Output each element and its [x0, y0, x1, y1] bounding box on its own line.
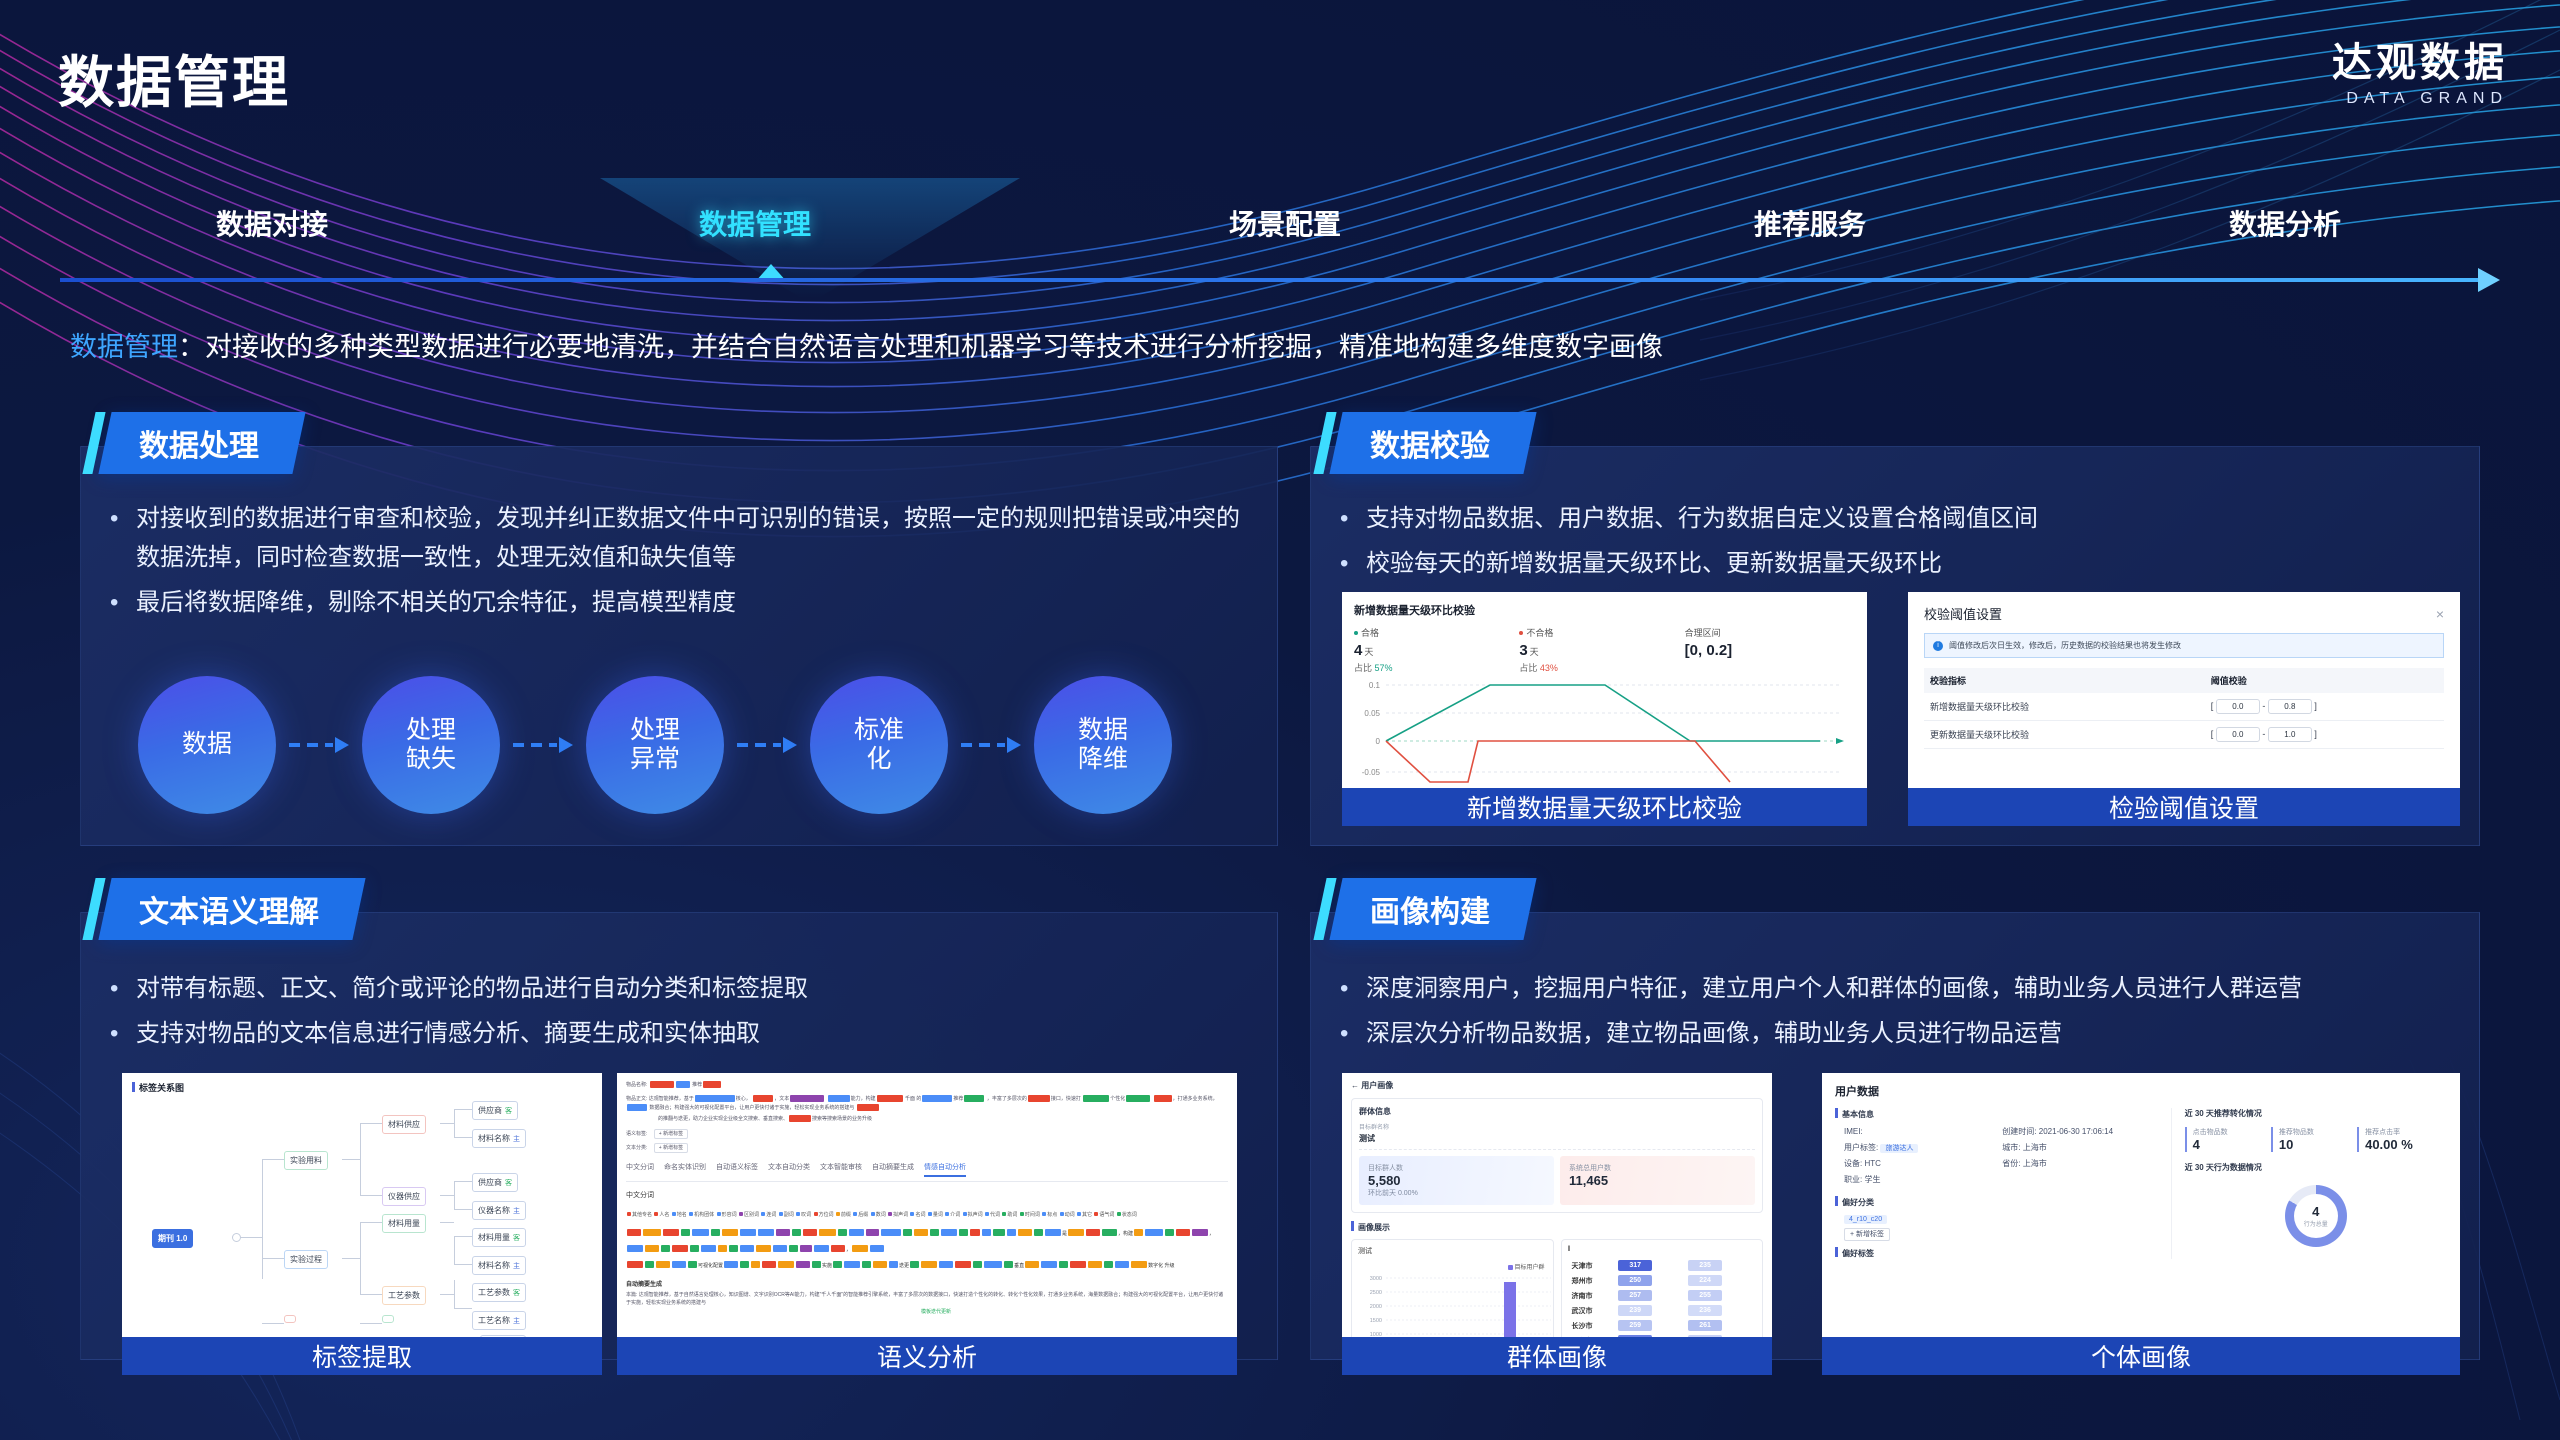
tree-leaf[interactable]: 供应商客	[472, 1173, 518, 1192]
pos-legend: 其他专名 人名 地名 机构团体 形容词 区别词 连词 副词 叹词 方位词 前缀 …	[626, 1206, 1228, 1220]
field-city: 城市: 上海市	[2002, 1140, 2160, 1156]
table-row: 郑州市250224	[1570, 1274, 1755, 1287]
bullet-dot: •	[1340, 545, 1366, 584]
tree-leaf[interactable]: 仪器名称主	[472, 1201, 526, 1220]
screenshot-threshold-dialog[interactable]: 校验阈值设置 × i 阈值修改后次日生效，修改后，历史数据的校验结果也将发生修改…	[1908, 592, 2460, 788]
kpi-ctr: 推荐点击率 40.00 %	[2357, 1127, 2447, 1152]
flow-arrow-icon	[724, 737, 810, 753]
group-info-card: 群体信息 目标群名称 测试 目标群人数 5,580 环比前天 0.00% 系统总…	[1351, 1098, 1763, 1213]
tab-1[interactable]: 命名实体识别	[664, 1162, 706, 1177]
table-row: 新增数据量天级环比校验 [ 0.0 - 0.8 ]	[1924, 693, 2444, 721]
group-name-value: 测试	[1359, 1133, 1755, 1144]
item-body-row: 物品正文: 达观智能推荐，基于核心， ，文本 能力，构建 千面 的推荐 ，丰富了…	[626, 1094, 1228, 1112]
pref-category-title: 偏好分类	[1835, 1196, 2161, 1208]
group-info-title: 群体信息	[1359, 1106, 1755, 1117]
item-name-row: 物品名称: 推荐	[626, 1080, 1228, 1089]
bullet-text: 深层次分析物品数据，建立物品画像，辅助业务人员进行物品运营	[1366, 1015, 2062, 1054]
bullet-dot: •	[1340, 1015, 1366, 1054]
field-province: 省份: 上海市	[2002, 1156, 2160, 1172]
caption-group-portrait: 群体画像	[1342, 1337, 1772, 1375]
slide-root: 数据管理 达观数据 DATA GRAND 数据对接 数据管理 场景配置 推荐服务…	[0, 0, 2560, 1440]
bullet-text: 支持对物品的文本信息进行情感分析、摘要生成和实体抽取	[136, 1015, 760, 1054]
threshold-table: 校验指标 阈值校验 新增数据量天级环比校验 [ 0.0 - 0.8 ] 更新数据…	[1924, 668, 2444, 749]
legend-qualified: 合格 4天 占比 57%	[1354, 626, 1519, 674]
tree-node-l1[interactable]: 实验过程	[284, 1250, 328, 1269]
basic-info-title: 基本信息	[1835, 1108, 2161, 1120]
tree-leaf[interactable]: 工艺名称主	[472, 1311, 526, 1330]
bullet-dot: •	[110, 584, 136, 623]
legend-dot-red	[1519, 631, 1523, 635]
summary-footer: 模板迭代更新	[626, 1309, 1228, 1316]
legend-unit: 天	[1530, 647, 1539, 657]
processing-flow: 数据 处理 缺失 处理 异常 标准 化 数据 降维	[138, 676, 1172, 814]
row-metric: 新增数据量天级环比校验	[1924, 693, 2205, 721]
bullet-text: 校验每天的新增数据量天级环比、更新数据量天级环比	[1366, 545, 1942, 584]
threshold-max-input[interactable]: 1.0	[2268, 727, 2312, 742]
chart-title: 测试	[1358, 1246, 1547, 1256]
bullet-item: •校验每天的新增数据量天级环比、更新数据量天级环比	[1340, 545, 2460, 584]
flow-node-label: 数据	[182, 730, 232, 760]
tab-6[interactable]: 情感自动分析	[924, 1162, 966, 1177]
stat-target-users: 目标群人数 5,580 环比前天 0.00%	[1359, 1156, 1554, 1205]
table-row: 武汉市239236	[1570, 1304, 1755, 1317]
pref-tag-title: 偏好标签	[1835, 1247, 2161, 1259]
panel-text-semantics-title: 文本语义理解	[139, 887, 319, 931]
caption-tag-extraction: 标签提取	[122, 1337, 602, 1375]
row-threshold: [ 0.0 - 1.0 ]	[2205, 721, 2444, 749]
panel-portrait-header: 画像构建	[1329, 878, 1536, 940]
tree-node-l2[interactable]	[382, 1315, 394, 1323]
screenshot-group-portrait[interactable]: ← 用户画像 群体信息 目标群名称 测试 目标群人数 5,580 环比前天 0.…	[1342, 1073, 1772, 1337]
city-table: 天津市317235 郑州市250224 济南市257255 武汉市239236 …	[1568, 1257, 1757, 1337]
bullet-dot: •	[1340, 970, 1366, 1009]
nav-item-3[interactable]: 推荐服务	[1754, 203, 1866, 243]
flow-arrow-icon	[948, 737, 1034, 753]
nav-progress-line	[60, 278, 2480, 282]
dod-line-chart: 0.1 0.05 0 -0.05	[1350, 678, 1855, 783]
legend-share: 57%	[1375, 663, 1393, 673]
bullet-dot: •	[110, 970, 136, 1009]
y-tick: 0.05	[1364, 709, 1380, 718]
bullet-text: 支持对物品数据、用户数据、行为数据自定义设置合格阈值区间	[1366, 500, 2038, 539]
nav-bar: 数据对接 数据管理 场景配置 推荐服务 数据分析	[0, 203, 2560, 263]
tree-node-l2[interactable]: 工艺参数	[382, 1286, 426, 1305]
kpi-recommend-count: 推荐物品数 10	[2271, 1127, 2347, 1152]
stat-total-users: 系统总用户数 11,465	[1560, 1156, 1755, 1205]
subtitle: 数据管理：对接收的多种类型数据进行必要地清洗，并结合自然语言处理和机器学习等技术…	[70, 325, 1663, 364]
flow-node-4: 数据 降维	[1034, 676, 1172, 814]
field-occupation: 职业: 学生	[1844, 1172, 2002, 1188]
section-bar-icon	[1835, 1108, 1838, 1118]
kpi-click-count: 点击物品数 4	[2185, 1127, 2261, 1152]
flow-node-label: 处理 异常	[630, 716, 680, 775]
legend-range: 合理区间 [0, 0.2]	[1685, 626, 1850, 674]
th-threshold: 阈值校验	[2205, 668, 2444, 693]
flow-arrow-icon	[500, 737, 586, 753]
group-city-table-card: ‖ 天津市317235 郑州市250224 济南市257255 武汉市23923…	[1561, 1239, 1764, 1337]
text-class-row: 文本分类: + 新增标签	[626, 1145, 1228, 1152]
legend-unqualified: 不合格 3天 占比 43%	[1519, 626, 1684, 674]
threshold-min-input[interactable]: 0.0	[2216, 699, 2260, 714]
nav-item-2[interactable]: 场景配置	[1229, 203, 1341, 243]
flow-node-label: 处理 缺失	[406, 716, 456, 775]
bullet-dot: •	[110, 500, 136, 578]
bullet-item: •支持对物品数据、用户数据、行为数据自定义设置合格阈值区间	[1340, 500, 2460, 539]
y-tick: -0.05	[1362, 768, 1381, 777]
tree-leaf[interactable]: 材料用量客	[472, 1228, 526, 1247]
y-tick: 0	[1376, 737, 1381, 746]
tree-collapse-icon[interactable]	[232, 1233, 241, 1242]
y-tick: 2000	[1370, 1304, 1382, 1310]
bullet-text: 最后将数据降维，剔除不相关的冗余特征，提高模型精度	[136, 584, 736, 623]
bullet-item: •深度洞察用户，挖掘用户特征，建立用户个人和群体的画像，辅助业务人员进行人群运营	[1340, 970, 2470, 1009]
threshold-min-input[interactable]: 0.0	[2216, 727, 2260, 742]
flow-node-label: 标准 化	[854, 716, 904, 775]
tree-leaf[interactable]: 工艺参数客	[472, 1283, 526, 1302]
brand-logo-cn: 达观数据	[2332, 42, 2508, 84]
flow-node-3: 标准 化	[810, 676, 948, 814]
panel-text-semantics-header: 文本语义理解	[98, 878, 365, 940]
close-icon[interactable]: ×	[2436, 606, 2444, 622]
field-user-tag: 用户标签: 旅游达人	[1844, 1140, 2002, 1156]
group-name-label: 目标群名称	[1359, 1122, 1755, 1131]
flow-node-label: 数据 降维	[1078, 716, 1128, 775]
nav-item-1[interactable]: 数据管理	[699, 203, 811, 243]
y-tick: 1500	[1370, 1318, 1382, 1324]
add-class-tag-button[interactable]: + 新增标签	[654, 1143, 688, 1153]
add-semantic-tag-button[interactable]: + 新增标签	[654, 1129, 688, 1139]
section-bar-icon	[1351, 1221, 1354, 1231]
tree-leaf[interactable]: 供应商客	[472, 1101, 518, 1120]
group-bar-chart: 3000 2500 2000 1500 1000	[1356, 1272, 1556, 1337]
panel-data-processing-bullets: •对接收到的数据进行审查和校验，发现并纠正数据文件中可识别的错误，按照一定的规则…	[110, 500, 1250, 629]
donut-value: 4	[2312, 1204, 2319, 1219]
field-create-time: 创建时间: 2021-06-30 17:06:14	[2002, 1124, 2160, 1140]
bullet-text: 对带有标题、正文、简介或评论的物品进行自动分类和标签提取	[136, 970, 808, 1009]
flow-arrow-icon	[276, 737, 362, 753]
page-title: 数据管理	[58, 38, 290, 119]
caption-semantic-analysis: 语义分析	[617, 1337, 1237, 1375]
legend-value: 3	[1519, 642, 1527, 659]
item-body-row2: 的推翻与迭更，助力企业实现企业级全文搜索、垂直搜索、搜索等搜索场景的业务升级	[626, 1114, 1228, 1123]
tab-3[interactable]: 文本自动分类	[768, 1162, 810, 1177]
dialog-title: 校验阈值设置	[1924, 604, 2002, 623]
tab-2[interactable]: 自动语义标签	[716, 1162, 758, 1177]
table-header-row: 校验指标 阈值校验	[1924, 668, 2444, 693]
tree-node-l2[interactable]: 材料供应	[382, 1115, 426, 1134]
info-icon: i	[1933, 641, 1943, 651]
user-tag-badge: 旅游达人	[1880, 1144, 1918, 1153]
panel-data-processing-title: 数据处理	[139, 421, 259, 465]
shot-title: 新增数据量天级环比校验	[1354, 602, 1855, 618]
threshold-max-input[interactable]: 0.8	[2268, 699, 2312, 714]
legend-share: 43%	[1540, 663, 1558, 673]
tree-leaf[interactable]: 材料名称主	[472, 1129, 526, 1148]
screenshot-dod-chart[interactable]: 新增数据量天级环比校验 合格 4天 占比 57% 不合格 3天 占比 43% 合…	[1342, 592, 1867, 788]
flow-node-1: 处理 缺失	[362, 676, 500, 814]
field-device: 设备: HTC	[1844, 1156, 2002, 1172]
row-threshold: [ 0.0 - 0.8 ]	[2205, 693, 2444, 721]
dialog-info-banner: i 阈值修改后次日生效，修改后，历史数据的校验结果也将发生修改	[1924, 633, 2444, 658]
panel-data-validation-title: 数据校验	[1370, 421, 1490, 465]
row-metric: 更新数据量天级环比校验	[1924, 721, 2205, 749]
chart-legend: 目标用户群	[1507, 1262, 1544, 1271]
legend-unit: 天	[1364, 647, 1373, 657]
flow-node-2: 处理 异常	[586, 676, 724, 814]
display-section-title: 画像展示	[1351, 1221, 1763, 1233]
bullet-text: 深度洞察用户，挖掘用户特征，建立用户个人和群体的画像，辅助业务人员进行人群运营	[1366, 970, 2302, 1009]
semantic-tag-row: 语义标签: + 新增标签	[626, 1131, 1228, 1138]
section-segmentation-title: 中文分词	[626, 1190, 1228, 1200]
dialog-tip-text: 阈值修改后次日生效，修改后，历史数据的校验结果也将发生修改	[1949, 640, 2181, 651]
tab-5[interactable]: 自动摘要生成	[872, 1162, 914, 1177]
legend-label: 合格	[1354, 626, 1519, 639]
table-row: 天津市317235	[1570, 1259, 1755, 1272]
nav-item-0[interactable]: 数据对接	[216, 203, 328, 243]
tree-node-l2[interactable]: 材料用量	[382, 1214, 426, 1233]
bullet-item: •对带有标题、正文、简介或评论的物品进行自动分类和标签提取	[110, 970, 1250, 1009]
y-tick: 3000	[1370, 1276, 1382, 1282]
pref-tag-badge: 4_r10_c20	[1844, 1215, 1887, 1224]
token-stream: 是，构建，， 可视化配置实施迭更垂直数字化 升级	[626, 1225, 1228, 1272]
screenshot-user-portrait[interactable]: 用户数据 基本信息 IMEI: 用户标签: 旅游达人 设备: HTC 职业: 学…	[1822, 1073, 2460, 1337]
chart-legend: 合格 4天 占比 57% 不合格 3天 占比 43% 合理区间 [0, 0.2]	[1354, 626, 1855, 674]
field-imei: IMEI:	[1844, 1124, 2002, 1140]
nav-arrow-icon	[2478, 268, 2500, 292]
behavior-title: 近 30 天行为数据情况	[2185, 1162, 2447, 1173]
semantic-tabs: 中文分词 命名实体识别 自动语义标签 文本自动分类 文本智能审核 自动摘要生成 …	[626, 1162, 1228, 1182]
bullet-dot: •	[1340, 500, 1366, 539]
panel-text-semantics-bullets: •对带有标题、正文、简介或评论的物品进行自动分类和标签提取 •支持对物品的文本信…	[110, 970, 1250, 1060]
subtitle-keyword: 数据管理	[70, 332, 178, 362]
bullet-item: •对接收到的数据进行审查和校验，发现并纠正数据文件中可识别的错误，按照一定的规则…	[110, 500, 1250, 578]
panel-data-validation-bullets: •支持对物品数据、用户数据、行为数据自定义设置合格阈值区间 •校验每天的新增数据…	[1340, 500, 2460, 590]
bullet-item: •深层次分析物品数据，建立物品画像，辅助业务人员进行物品运营	[1340, 1015, 2470, 1054]
th-metric: 校验指标	[1924, 668, 2205, 693]
shot-title: 用户数据	[1835, 1083, 2447, 1099]
dialog-header: 校验阈值设置 ×	[1924, 604, 2444, 623]
panel-data-processing-header: 数据处理	[98, 412, 305, 474]
back-link[interactable]: ← 用户画像	[1351, 1080, 1763, 1091]
y-tick: 2500	[1370, 1290, 1382, 1296]
caption-user-portrait: 个体画像	[1822, 1337, 2460, 1375]
brand-logo-en: DATA GRAND	[2332, 90, 2508, 108]
table-row: 长沙市259261	[1570, 1319, 1755, 1332]
range-value: [0, 0.2]	[1685, 642, 1850, 659]
nav-item-4[interactable]: 数据分析	[2229, 203, 2341, 243]
group-bar-chart-card: 测试 目标用户群 3000 2500 2000 1500 1000	[1351, 1239, 1554, 1337]
tree-node-l1[interactable]: 实验用料	[284, 1151, 328, 1170]
section-bar-icon	[1835, 1247, 1838, 1257]
panel-portrait-title: 画像构建	[1370, 887, 1490, 931]
tree-node-l2[interactable]: 仪器供应	[382, 1187, 426, 1206]
table-title: ‖	[1568, 1246, 1757, 1253]
bullet-item: •支持对物品的文本信息进行情感分析、摘要生成和实体抽取	[110, 1015, 1250, 1054]
bullet-dot: •	[110, 1015, 136, 1054]
y-tick: 0.1	[1369, 681, 1381, 690]
tab-4[interactable]: 文本智能审核	[820, 1162, 862, 1177]
brand-logo: 达观数据 DATA GRAND	[2332, 42, 2508, 108]
legend-value: 4	[1354, 642, 1362, 659]
bullet-item: •最后将数据降维，剔除不相关的冗余特征，提高模型精度	[110, 584, 1250, 623]
caption-dod-chart: 新增数据量天级环比校验	[1342, 788, 1867, 826]
add-pref-tag-button[interactable]: + 新增标签	[1844, 1228, 1890, 1241]
bullet-text: 对接收到的数据进行审查和校验，发现并纠正数据文件中可识别的错误，按照一定的规则把…	[136, 500, 1250, 578]
behavior-donut-chart: 4 行为总量	[2285, 1185, 2347, 1247]
caption-threshold-dialog: 检验阈值设置	[1908, 788, 2460, 826]
conversion-title: 近 30 天推荐转化情况	[2185, 1108, 2447, 1119]
section-bar-icon	[1835, 1196, 1838, 1206]
tree-leaf[interactable]: 材料名称主	[472, 1256, 526, 1275]
screenshot-semantic-analysis[interactable]: 物品名称: 推荐 物品正文: 达观智能推荐，基于核心， ，文本 能力，构建 千面…	[617, 1073, 1237, 1337]
subtitle-sep: ：	[178, 332, 205, 362]
section-summary-title: 自动摘要生成	[626, 1279, 1228, 1288]
flow-node-0: 数据	[138, 676, 276, 814]
subtitle-text: 对接收的多种类型数据进行必要地清洗，并结合自然语言处理和机器学习等技术进行分析挖…	[205, 332, 1663, 362]
donut-label: 行为总量	[2304, 1219, 2328, 1228]
table-row: 济南市257255	[1570, 1289, 1755, 1302]
table-row: 更新数据量天级环比校验 [ 0.0 - 1.0 ]	[1924, 721, 2444, 749]
panel-data-validation-header: 数据校验	[1329, 412, 1536, 474]
tab-0[interactable]: 中文分词	[626, 1162, 654, 1177]
panel-portrait-bullets: •深度洞察用户，挖掘用户特征，建立用户个人和群体的画像，辅助业务人员进行人群运营…	[1340, 970, 2470, 1060]
legend-dot-green	[1354, 631, 1358, 635]
summary-text: 本篇: 达观智能推荐，基于自然语言处理核心，知识图谱、文字识别OCR等AI能力，…	[626, 1292, 1228, 1307]
tag-tree-canvas: 期刊 1.0 实验用料 实验过程 材料供应 仪器供应 材料用量 工艺参数 供应商…	[122, 1091, 602, 1337]
legend-label: 不合格	[1519, 626, 1684, 639]
tree-node-l1[interactable]	[284, 1315, 296, 1323]
screenshot-tag-tree[interactable]: 标签关系图	[122, 1073, 602, 1337]
tree-root-node[interactable]: 期刊 1.0	[152, 1229, 193, 1248]
